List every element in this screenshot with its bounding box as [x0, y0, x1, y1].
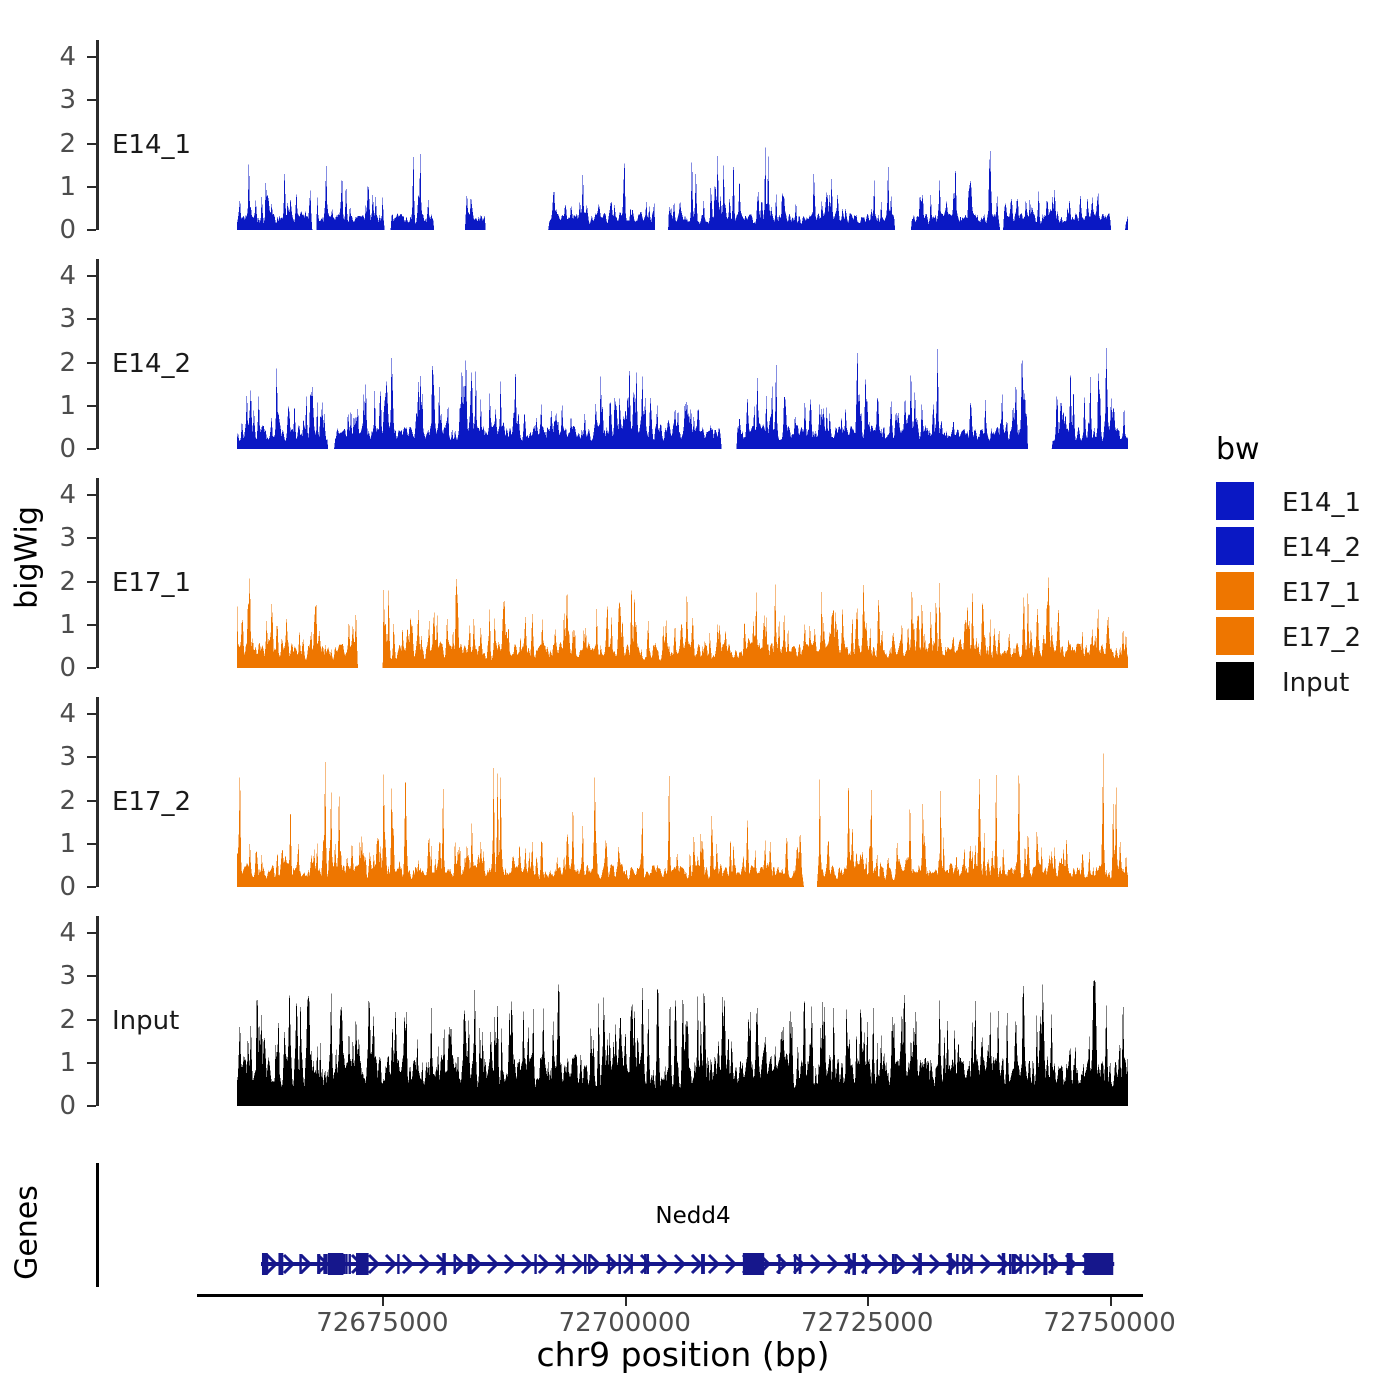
- x-axis-line: [197, 1294, 1143, 1297]
- y-tick-label: 1: [36, 393, 76, 419]
- signal-track-e17_1: [237, 478, 1129, 668]
- x-tick: [867, 1297, 869, 1306]
- genes-axis-line: [96, 1163, 99, 1287]
- track-label-input: Input: [112, 1006, 179, 1036]
- y-tick-label: 4: [36, 482, 76, 508]
- y-tick: [87, 318, 96, 320]
- y-tick: [87, 581, 96, 583]
- track-label-e17_1: E17_1: [112, 568, 191, 598]
- y-tick: [87, 713, 96, 715]
- y-tick-label: 0: [36, 874, 76, 900]
- y-tick-label: 0: [36, 655, 76, 681]
- exon-box: [279, 1253, 284, 1275]
- y-tick: [87, 56, 96, 58]
- gene-name-label: Nedd4: [593, 1203, 793, 1229]
- track-label-e14_1: E14_1: [112, 130, 191, 160]
- y-tick: [87, 537, 96, 539]
- legend-swatch-e17_2[interactable]: [1216, 617, 1254, 655]
- y-tick-label: 4: [36, 263, 76, 289]
- y-tick-label: 1: [36, 831, 76, 857]
- y-tick: [87, 1019, 96, 1021]
- x-axis-title: chr9 position (bp): [183, 1335, 1183, 1374]
- exon-box: [919, 1253, 923, 1275]
- y-tick: [87, 229, 96, 231]
- y-tick-label: 0: [36, 217, 76, 243]
- legend-label-e17_2: E17_2: [1282, 623, 1361, 653]
- y-tick-label: 1: [36, 174, 76, 200]
- legend-swatch-input[interactable]: [1216, 662, 1254, 700]
- y-tick: [87, 99, 96, 101]
- legend-label-e14_2: E14_2: [1282, 533, 1361, 563]
- y-axis-line: [96, 916, 99, 1106]
- legend-swatch-e14_2[interactable]: [1216, 527, 1254, 565]
- x-tick: [625, 1297, 627, 1306]
- y-tick: [87, 1062, 96, 1064]
- exon-box: [328, 1253, 344, 1275]
- y-axis-line: [96, 40, 99, 230]
- x-tick-label: 72750000: [1000, 1310, 1220, 1336]
- y-tick-label: 1: [36, 612, 76, 638]
- y-tick: [87, 756, 96, 758]
- y-tick: [87, 405, 96, 407]
- y-tick-label: 2: [36, 788, 76, 814]
- y-tick: [87, 843, 96, 845]
- y-tick-label: 4: [36, 920, 76, 946]
- y-tick: [87, 186, 96, 188]
- genome-browser-figure: bigWig Genes 01234E14_101234E14_201234E1…: [0, 0, 1400, 1400]
- y-tick-label: 2: [36, 569, 76, 595]
- y-tick: [87, 932, 96, 934]
- exon-box: [949, 1253, 953, 1275]
- y-tick-label: 3: [36, 744, 76, 770]
- y-tick: [87, 800, 96, 802]
- y-tick-label: 2: [36, 131, 76, 157]
- legend-swatch-e17_1[interactable]: [1216, 572, 1254, 610]
- y-tick: [87, 975, 96, 977]
- gene-model: [258, 1247, 1118, 1281]
- y-tick-label: 4: [36, 701, 76, 727]
- y-tick: [87, 362, 96, 364]
- y-tick-label: 3: [36, 963, 76, 989]
- signal-track-e17_2: [237, 697, 1129, 887]
- x-tick: [1110, 1297, 1112, 1306]
- exon-box: [743, 1253, 764, 1275]
- exon-box: [853, 1253, 857, 1275]
- y-axis-line: [96, 478, 99, 668]
- y-tick: [87, 667, 96, 669]
- x-tick-label: 72700000: [515, 1310, 735, 1336]
- y-tick-label: 2: [36, 1007, 76, 1033]
- exon-box: [1044, 1253, 1048, 1275]
- y-tick: [87, 448, 96, 450]
- exon-box: [443, 1253, 447, 1275]
- legend-label-input: Input: [1282, 668, 1349, 698]
- legend-swatch-e14_1[interactable]: [1216, 482, 1254, 520]
- y-tick: [87, 275, 96, 277]
- y-tick: [87, 494, 96, 496]
- y-tick: [87, 624, 96, 626]
- signal-track-e14_2: [237, 259, 1129, 449]
- y-tick: [87, 886, 96, 888]
- x-tick-label: 72675000: [272, 1310, 492, 1336]
- signal-track-input: [237, 916, 1129, 1106]
- exon-box: [262, 1253, 268, 1275]
- y-axis-line: [96, 259, 99, 449]
- y-tick-label: 3: [36, 525, 76, 551]
- y-tick: [87, 1105, 96, 1107]
- y-tick-label: 3: [36, 306, 76, 332]
- y-tick-label: 0: [36, 1093, 76, 1119]
- y-tick-label: 2: [36, 350, 76, 376]
- y-tick-label: 4: [36, 44, 76, 70]
- legend-label-e14_1: E14_1: [1282, 488, 1361, 518]
- exon-box: [1084, 1253, 1113, 1275]
- genes-axis-title: Genes: [10, 1173, 45, 1293]
- y-tick-label: 1: [36, 1050, 76, 1076]
- y-axis-line: [96, 697, 99, 887]
- y-tick-label: 0: [36, 436, 76, 462]
- track-label-e14_2: E14_2: [112, 349, 191, 379]
- track-label-e17_2: E17_2: [112, 787, 191, 817]
- exon-box: [1002, 1253, 1006, 1275]
- signal-track-e14_1: [237, 40, 1129, 230]
- y-tick: [87, 143, 96, 145]
- x-tick-label: 72725000: [757, 1310, 977, 1336]
- legend-title: bw: [1216, 432, 1260, 467]
- legend-label-e17_1: E17_1: [1282, 578, 1361, 608]
- x-tick: [382, 1297, 384, 1306]
- exon-box: [356, 1253, 369, 1275]
- y-tick-label: 3: [36, 87, 76, 113]
- exon-box: [1067, 1253, 1073, 1275]
